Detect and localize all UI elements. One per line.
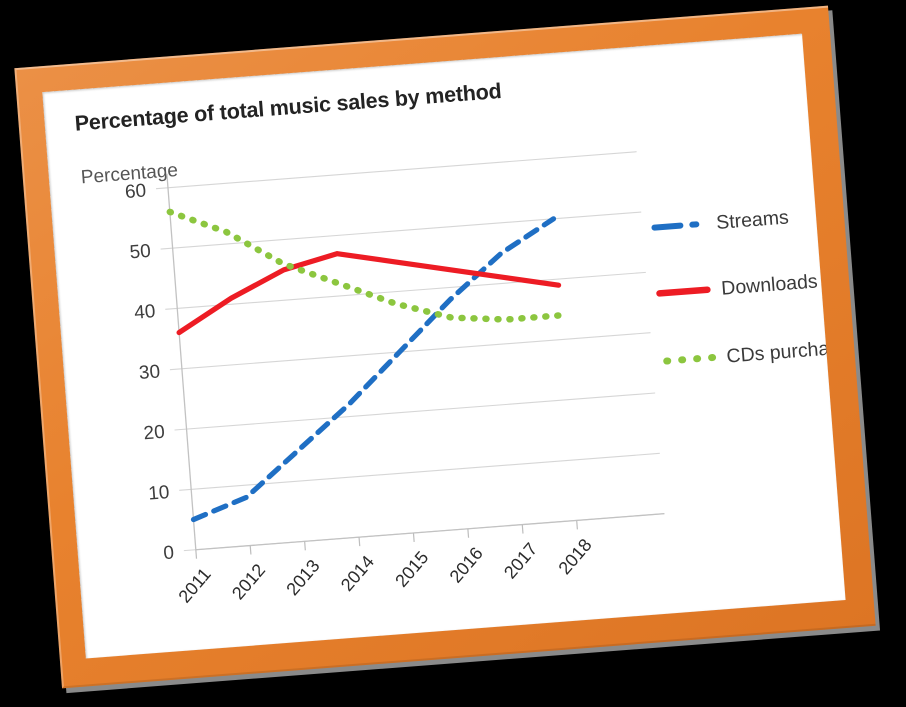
gridline-y-10 [179, 453, 660, 490]
legend-label-streams: Streams [715, 206, 789, 234]
framed-chart-image: Percentage of total music sales by metho… [14, 6, 875, 689]
legend-label-cds-purchased: CDs purchased [726, 335, 846, 367]
legend-swatch-streams [654, 226, 680, 228]
x-tick-mark-2012 [250, 546, 251, 555]
y-tick-label-20: 20 [143, 422, 166, 445]
x-tick-label-2014: 2014 [337, 552, 378, 595]
x-tick-mark-2018 [577, 520, 578, 529]
y-tick-label-30: 30 [138, 361, 161, 384]
legend-swatch-cds-purchased [667, 357, 715, 361]
gridline-y-50 [161, 212, 642, 249]
x-tick-label-2012: 2012 [228, 560, 269, 603]
x-tick-mark-2015 [413, 533, 414, 542]
gridline-y-20 [175, 393, 656, 430]
x-tick-label-2013: 2013 [282, 556, 323, 599]
x-tick-label-2011: 2011 [174, 564, 214, 606]
x-tick-mark-2011 [196, 550, 197, 559]
y-axis-line [167, 174, 196, 550]
series-line-streams [173, 219, 575, 520]
series-line-cds-purchased [170, 183, 561, 345]
orange-picture-frame: Percentage of total music sales by metho… [14, 6, 875, 689]
x-axis-line [196, 514, 665, 550]
axis-lines [167, 138, 665, 550]
gridline-y-60 [156, 152, 637, 189]
x-tick-label-2016: 2016 [446, 543, 487, 586]
y-tick-label-60: 60 [124, 180, 147, 203]
series-line-downloads [174, 237, 560, 333]
x-tick-label-2018: 2018 [554, 535, 595, 578]
plot-area-svg: 0102030405060 20112012201320142015201620… [42, 34, 845, 659]
y-tick-label-50: 50 [129, 241, 152, 264]
x-tick-mark-2014 [359, 537, 360, 546]
x-tick-mark-2016 [468, 529, 469, 538]
y-axis-ticks: 0102030405060 [124, 180, 175, 564]
y-tick-label-40: 40 [134, 301, 157, 324]
line-chart: Percentage of total music sales by metho… [42, 34, 845, 659]
x-tick-label-2015: 2015 [391, 547, 432, 590]
legend-swatch-downloads [660, 290, 708, 294]
x-tick-label-2017: 2017 [500, 539, 541, 582]
gridlines [156, 152, 664, 551]
x-tick-mark-2013 [305, 541, 306, 550]
legend-label-downloads: Downloads [721, 270, 819, 299]
screenshot-canvas: Percentage of total music sales by metho… [0, 0, 906, 707]
y-tick-label-10: 10 [147, 482, 170, 505]
x-axis-ticks: 20112012201320142015201620172018 [171, 519, 598, 608]
x-tick-mark-2017 [522, 525, 523, 534]
chart-paper: Percentage of total music sales by metho… [42, 34, 845, 659]
y-tick-label-0: 0 [163, 542, 175, 564]
chart-legend: StreamsDownloadsCDs purchased [654, 202, 846, 373]
